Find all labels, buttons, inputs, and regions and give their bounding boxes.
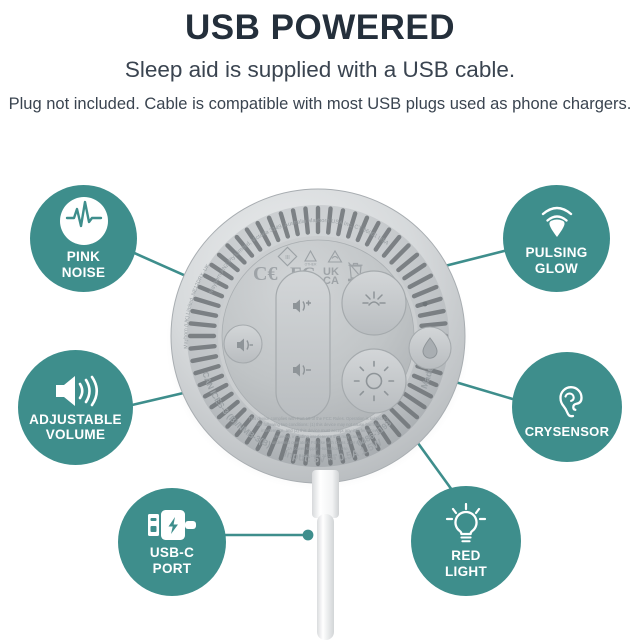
badge-pink-noise[interactable]: PINK NOISE [30,185,137,292]
sleep-aid-device: Mayborn ANZ Pty Limited, Victoria 3149, … [148,176,488,496]
ear-icon [548,374,586,420]
fcc-line: the following two conditions: (1) this d… [257,422,380,427]
glow-button[interactable] [342,271,406,335]
svg-text:III: III [285,255,290,261]
usb-c-connector [312,470,339,518]
fcc-line: interference, and (2) this device must a… [261,428,375,433]
badge-usb-c-port[interactable]: USB-C PORT [118,488,226,596]
fcc-line: received, including interference that ma… [274,434,362,439]
badge-label: PULSING GLOW [525,245,587,275]
usb-plug-icon [146,508,198,542]
badge-label: USB-C PORT [150,545,194,575]
badge-pulsing-glow[interactable]: PULSING GLOW [503,185,610,292]
badge-label: RED LIGHT [445,548,487,578]
lightbulb-icon [444,503,488,545]
batch-code-text: Batch code: 2102HP [299,453,338,458]
infographic-canvas: USB POWERED Sleep aid is supplied with a… [0,0,640,640]
fcc-line: undesired operation. For use with Class … [272,440,366,445]
mute-button[interactable] [224,325,262,363]
badge-label: CRYSENSOR [525,425,610,440]
speaker-icon [53,373,99,409]
cable-wire [317,514,334,640]
glow-pin-icon [535,201,579,241]
badge-adjustable-volume[interactable]: ADJUSTABLE VOLUME [18,350,133,465]
fcc-line: This device complies with Part 15 of the… [248,416,388,421]
brightness-button[interactable] [342,349,406,413]
usb-c-cable [295,470,355,640]
ce-mark: C€ [253,263,277,285]
badge-red-light[interactable]: RED LIGHT [411,486,521,596]
badge-label: PINK NOISE [62,249,106,279]
badge-label: ADJUSTABLE VOLUME [29,412,122,442]
led-dot [423,302,428,307]
volume-rocker[interactable] [276,271,330,419]
waveform-icon [60,197,108,245]
fcc-line: 3A power supply. Household use. [287,446,349,451]
badge-crysensor[interactable]: CRYSENSOR [512,352,622,462]
cry-sensor-button[interactable] [409,327,451,369]
